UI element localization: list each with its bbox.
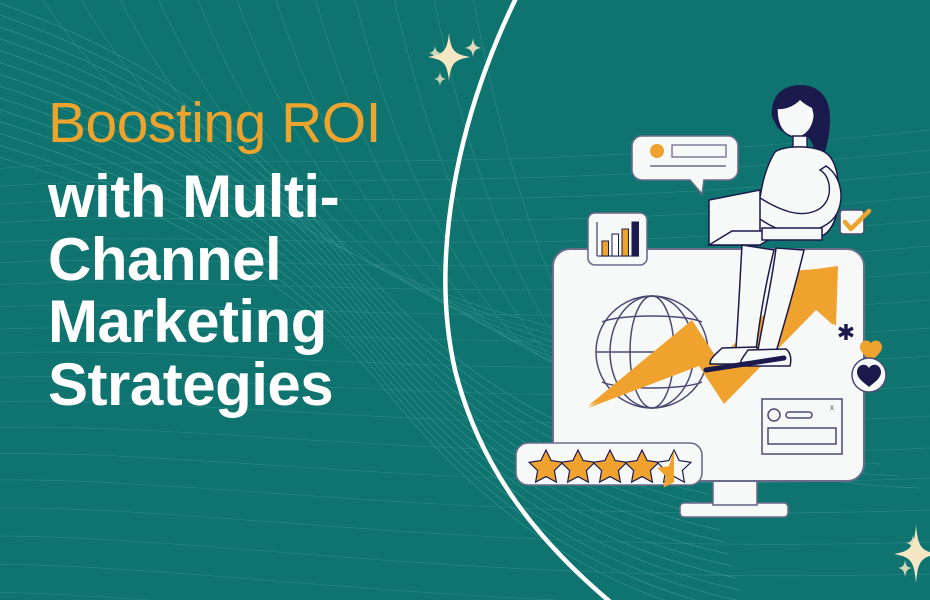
floating-badges xyxy=(0,0,930,600)
poster-canvas: Boosting ROI with Multi- Channel Marketi… xyxy=(0,0,930,600)
heart-circle-badge-icon xyxy=(852,358,886,392)
checkbox-checked-badge-icon xyxy=(840,210,869,234)
